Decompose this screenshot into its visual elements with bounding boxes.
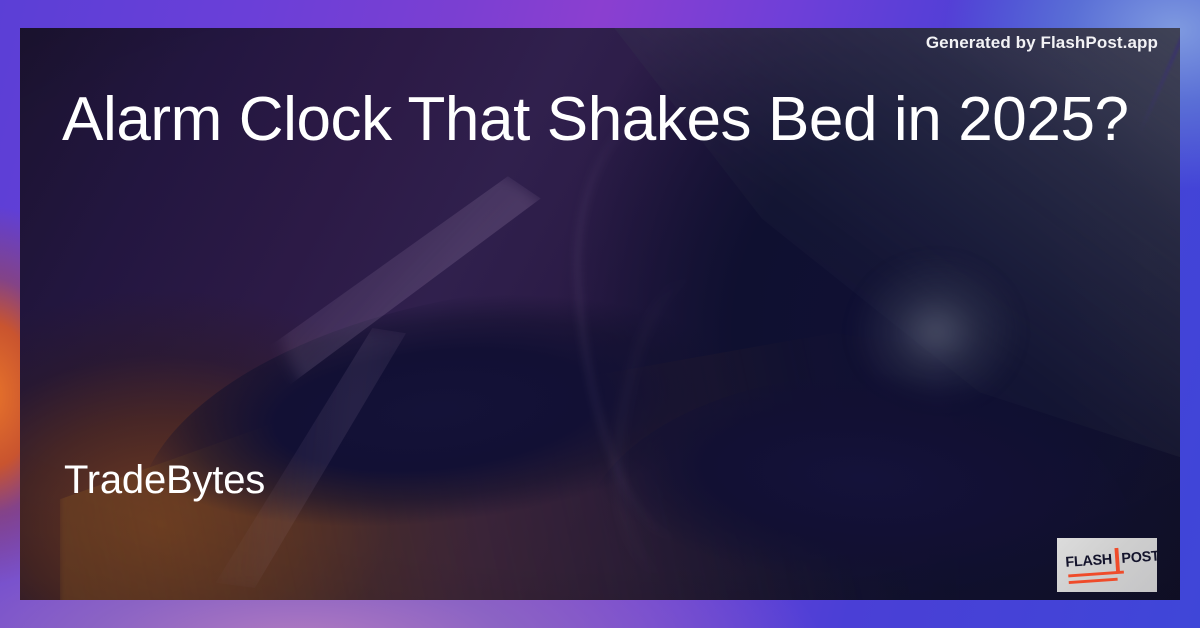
- logo-post-text: POST: [1121, 548, 1157, 567]
- logo-underline-rules-icon: [1068, 571, 1124, 588]
- card-content: Generated by FlashPost.app Alarm Clock T…: [20, 28, 1180, 600]
- artwork-panel: Generated by FlashPost.app Alarm Clock T…: [20, 28, 1180, 600]
- logo-inner-group: FLASH POST ™: [1057, 538, 1156, 592]
- flashpost-logo-badge[interactable]: FLASH POST ™: [1057, 538, 1157, 592]
- logo-flash-text: FLASH: [1065, 551, 1113, 571]
- social-share-card: Generated by FlashPost.app Alarm Clock T…: [0, 0, 1200, 628]
- page-title: Alarm Clock That Shakes Bed in 2025?: [62, 84, 1132, 156]
- attribution-label: Generated by FlashPost.app: [926, 33, 1158, 53]
- byline-label: TradeBytes: [64, 458, 265, 503]
- logo-rule-bottom: [1069, 578, 1118, 584]
- logo-divider-bar-icon: [1114, 548, 1120, 573]
